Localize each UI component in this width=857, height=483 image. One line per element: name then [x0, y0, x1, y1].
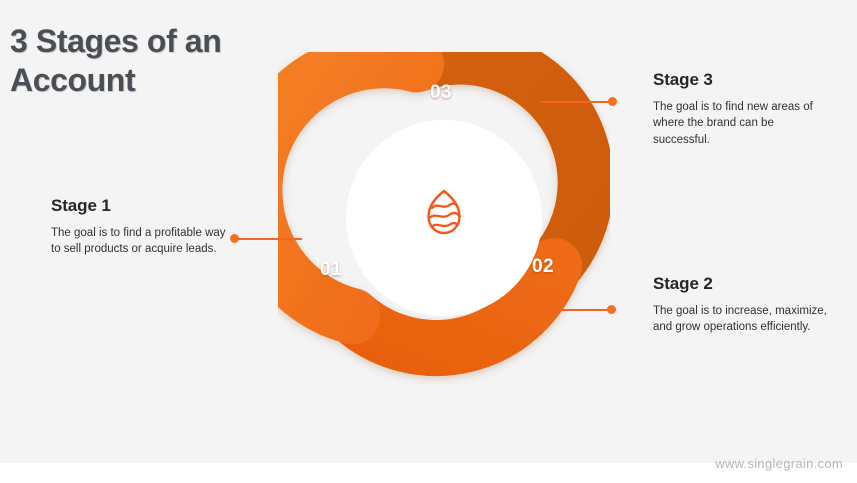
connector-dot-stage-2: [607, 305, 616, 314]
connector-line-stage-2: [544, 309, 614, 311]
logo-wave-bottom: [432, 223, 458, 227]
stage-2-heading: Stage 2: [653, 274, 833, 294]
connector-line-stage-3: [540, 101, 614, 103]
infographic-slide: 3 Stages of an Account: [0, 0, 857, 483]
logo-wave-mid: [430, 213, 460, 218]
stage-1-description: The goal is to find a profitable way to …: [51, 225, 229, 258]
stage-3-description: The goal is to find new areas of where t…: [653, 99, 833, 148]
page-title: 3 Stages of an Account: [10, 22, 310, 100]
stage-1-callout: Stage 1 The goal is to find a profitable…: [51, 196, 229, 258]
stage-3-callout: Stage 3 The goal is to find new areas of…: [653, 70, 833, 148]
logo-wave-top: [432, 203, 457, 208]
connector-dot-stage-1: [230, 234, 239, 243]
stage-3-heading: Stage 3: [653, 70, 833, 90]
stage-2-description: The goal is to increase, maximize, and g…: [653, 303, 833, 336]
connector-line-stage-1: [236, 238, 302, 240]
segment-label-03: 03: [430, 82, 452, 104]
segment-label-01: 01: [320, 259, 342, 281]
stage-2-callout: Stage 2 The goal is to increase, maximiz…: [653, 274, 833, 336]
singlegrain-logo-icon: [424, 188, 464, 236]
connector-dot-stage-3: [608, 97, 617, 106]
stage-1-heading: Stage 1: [51, 196, 229, 216]
footer-watermark: www.singlegrain.com: [715, 456, 843, 471]
segment-label-02: 02: [532, 256, 554, 278]
singlegrain-logo-svg: [424, 188, 464, 236]
